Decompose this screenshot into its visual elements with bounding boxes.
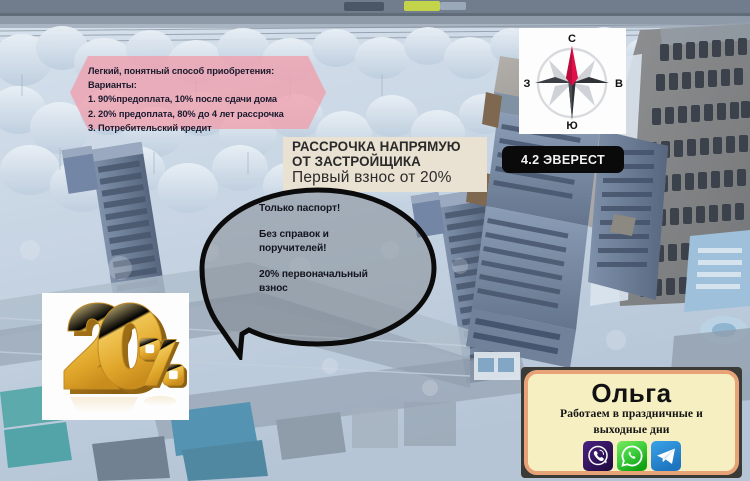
compass-label-east: В [615, 78, 623, 90]
agent-contact-card-inner: Ольга Работаем в праздничные и выходные … [524, 370, 739, 475]
installment-headline-line-2: ОТ ЗАСТРОЙЩИКА [292, 154, 492, 169]
payment-options-line-5: 3. Потребительский кредит [88, 121, 332, 135]
payment-options-line-1: Легкий, понятный способ приобретения: [88, 64, 332, 78]
requirements-line-2: Без справок и [259, 228, 434, 243]
twenty-percent-gold-badge [42, 293, 189, 420]
agent-availability-line-1: Работаем в праздничные и [560, 406, 703, 422]
agent-contact-card[interactable]: Ольга Работаем в праздничные и выходные … [521, 367, 742, 478]
installment-headline-line-1: РАССРОЧКА НАПРЯМУЮ [292, 139, 492, 154]
payment-options-text: Легкий, понятный способ приобретения: Ва… [88, 64, 332, 135]
viber-icon[interactable] [583, 441, 613, 471]
requirements-line-3: поручителей! [259, 242, 434, 257]
requirements-text: Только паспорт! Без справок и поручителе… [259, 202, 434, 297]
messenger-row [583, 441, 681, 471]
agent-availability-line-2: выходные дни [560, 422, 703, 438]
agent-availability-note: Работаем в праздничные и выходные дни [560, 406, 703, 438]
project-name-label: 4.2 ЭВЕРЕСТ [521, 153, 605, 167]
requirements-line-4: 20% первоначальный [259, 268, 434, 283]
compass-label-west: З [524, 78, 531, 90]
compass-rose-icon [535, 46, 609, 120]
requirements-line-5: взнос [259, 282, 434, 297]
compass-label-north: С [568, 33, 576, 45]
payment-options-line-4: 2. 20% предоплата, 80% до 4 лет рассрочк… [88, 107, 332, 121]
payment-options-line-3: 1. 90%предоплата, 10% после сдачи дома [88, 92, 332, 106]
compass-rose-card: С В Ю З [519, 28, 626, 134]
requirements-spacer-2 [259, 257, 434, 268]
installment-headline: РАССРОЧКА НАПРЯМУЮ ОТ ЗАСТРОЙЩИКА [292, 139, 492, 169]
compass-label-south: Ю [566, 120, 577, 132]
whatsapp-icon[interactable] [617, 441, 647, 471]
promo-image-canvas: Легкий, понятный способ приобретения: Ва… [0, 0, 750, 481]
project-name-pill: 4.2 ЭВЕРЕСТ [502, 146, 624, 173]
requirements-spacer-1 [259, 217, 434, 228]
requirements-line-1: Только паспорт! [259, 202, 434, 217]
payment-options-line-2: Варианты: [88, 78, 332, 92]
agent-name: Ольга [591, 379, 671, 407]
telegram-icon[interactable] [651, 441, 681, 471]
